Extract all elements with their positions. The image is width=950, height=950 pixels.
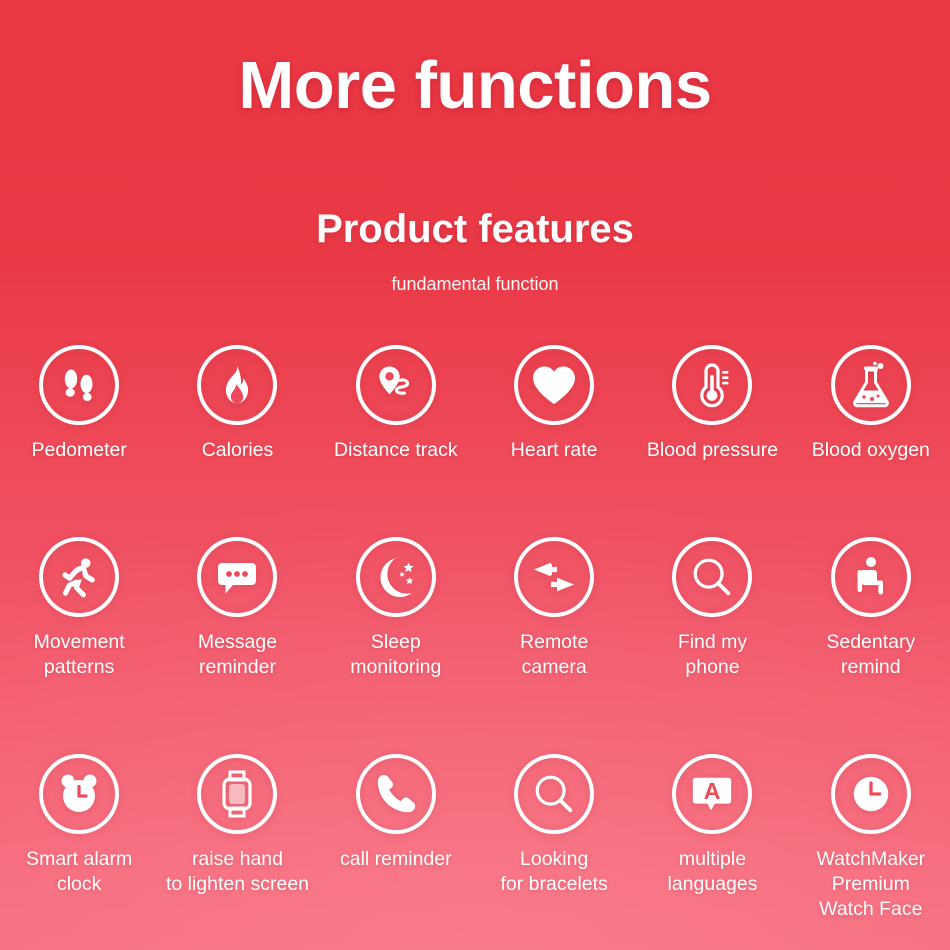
magnifier-icon	[672, 537, 752, 617]
feature-label: raise hand to lighten screen	[166, 847, 309, 897]
footprints-icon	[39, 345, 119, 425]
moon-stars-icon	[356, 537, 436, 617]
flask-bubbles-icon	[831, 345, 911, 425]
headings-block: More functions Product features fundamen…	[0, 0, 950, 293]
section-title: Product features	[0, 119, 950, 249]
feature-label: Blood oxygen	[812, 438, 930, 463]
feature-item-calories: Calories	[158, 345, 316, 463]
feature-item-looking-for-bracelets: Looking for bracelets	[475, 754, 633, 922]
feature-row-3: Smart alarm clock raise hand to lighten …	[0, 680, 950, 922]
smartwatch-icon	[197, 754, 277, 834]
feature-label: WatchMaker Premium Watch Face	[816, 847, 925, 922]
chat-bubble-icon	[197, 537, 277, 617]
heart-icon	[514, 345, 594, 425]
map-pin-route-icon	[356, 345, 436, 425]
feature-item-distance-track: Distance track	[317, 345, 475, 463]
feature-item-find-my-phone: Find my phone	[633, 537, 791, 680]
feature-row-2: Movement patterns Message reminder	[0, 463, 950, 680]
feature-label: Distance track	[334, 438, 458, 463]
feature-label: Pedometer	[31, 438, 126, 463]
feature-label: Calories	[202, 438, 274, 463]
alarm-clock-icon	[39, 754, 119, 834]
feature-label: Sleep monitoring	[350, 630, 441, 680]
phone-handset-icon	[356, 754, 436, 834]
page-title: More functions	[0, 52, 950, 119]
product-features-poster: More functions Product features fundamen…	[0, 0, 950, 950]
feature-label: Find my phone	[678, 630, 747, 680]
feature-item-multiple-languages: A multiple languages	[633, 754, 791, 922]
feature-row-1: Pedometer Calories Distance track	[0, 293, 950, 463]
two-arrows-icon	[514, 537, 594, 617]
feature-item-pedometer: Pedometer	[0, 345, 158, 463]
feature-item-movement-patterns: Movement patterns	[0, 537, 158, 680]
feature-item-heart-rate: Heart rate	[475, 345, 633, 463]
feature-label: Movement patterns	[34, 630, 125, 680]
flame-icon	[197, 345, 277, 425]
feature-item-sedentary-remind: Sedentary remind	[792, 537, 950, 680]
feature-item-remote-camera: Remote camera	[475, 537, 633, 680]
running-person-icon	[39, 537, 119, 617]
clock-face-icon	[831, 754, 911, 834]
feature-item-blood-pressure: Blood pressure	[633, 345, 791, 463]
feature-label: Sedentary remind	[826, 630, 915, 680]
feature-item-blood-oxygen: Blood oxygen	[792, 345, 950, 463]
feature-item-call-reminder: call reminder	[317, 754, 475, 922]
seated-person-icon	[831, 537, 911, 617]
feature-item-sleep-monitoring: Sleep monitoring	[317, 537, 475, 680]
feature-item-message-reminder: Message reminder	[158, 537, 316, 680]
feature-label: multiple languages	[667, 847, 757, 897]
feature-label: call reminder	[340, 847, 452, 872]
feature-label: Looking for bracelets	[501, 847, 608, 897]
feature-item-smart-alarm-clock: Smart alarm clock	[0, 754, 158, 922]
feature-label: Smart alarm clock	[26, 847, 132, 897]
section-caption: fundamental function	[0, 249, 950, 293]
feature-label: Message reminder	[198, 630, 277, 680]
feature-label: Remote camera	[520, 630, 588, 680]
feature-label: Heart rate	[511, 438, 598, 463]
feature-item-watchmaker: WatchMaker Premium Watch Face	[792, 754, 950, 922]
svg-text:A: A	[704, 778, 721, 804]
magnifier-icon	[514, 754, 594, 834]
language-bubble-a-icon: A	[672, 754, 752, 834]
thermometer-icon	[672, 345, 752, 425]
feature-item-raise-hand: raise hand to lighten screen	[158, 754, 316, 922]
feature-label: Blood pressure	[647, 438, 778, 463]
